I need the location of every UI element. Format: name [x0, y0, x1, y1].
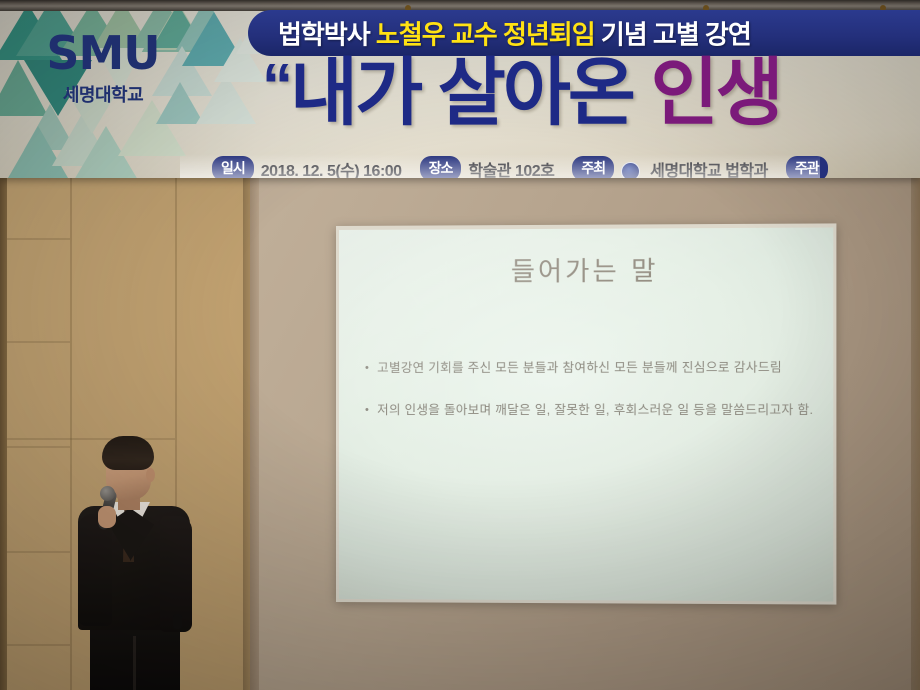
microphone-head-icon	[100, 486, 115, 501]
event-banner: SMU 세명대학교 법학박사 노철우 교수 정년퇴임 기념 고별 강연 “내가 …	[0, 8, 920, 178]
organizer-label-pill: 주관	[786, 156, 828, 178]
host-label-pill: 주최	[572, 156, 614, 178]
bullet-dot-icon: •	[365, 358, 369, 380]
quote-mark: “	[262, 52, 290, 121]
presentation-clicker-icon	[173, 614, 182, 629]
slide-bullet-list: • 고별강연 기회를 주신 모든 분들과 참여하신 모든 분들께 진심으로 감사…	[365, 357, 815, 442]
slide-title: 들어가는 말	[339, 250, 833, 289]
speaker-ear	[146, 468, 155, 482]
header-seg-1: 법학박사	[278, 20, 376, 50]
smu-wordmark: SMU	[38, 30, 168, 76]
banner-main-title: “내가 살아온 인생	[262, 56, 781, 130]
speaker-hand	[98, 506, 116, 528]
wall-left-edge	[0, 176, 7, 690]
bullet-text: 저의 인생을 돌아보며 깨달은 일, 잘못한 일, 후회스러운 일 등을 말씀드…	[377, 400, 815, 422]
banner-header-bar: 법학박사 노철우 교수 정년퇴임 기념 고별 강연	[248, 10, 920, 56]
place-value: 학술관 102호	[468, 157, 554, 179]
header-seg-highlight: 노철우 교수 정년퇴임	[376, 20, 595, 50]
wall-right-edge	[911, 176, 920, 690]
date-label-pill: 일시	[212, 156, 254, 178]
smu-logo: SMU 세명대학교	[38, 30, 168, 107]
projection-screen: 들어가는 말 • 고별강연 기회를 주신 모든 분들과 참여하신 모든 분들께 …	[336, 223, 836, 604]
place-label-pill: 장소	[420, 156, 462, 178]
university-crest-icon	[621, 162, 640, 178]
bullet-dot-icon: •	[365, 400, 369, 422]
lecture-hall-photo: SMU 세명대학교 법학박사 노철우 교수 정년퇴임 기념 고별 강연 “내가 …	[0, 0, 920, 690]
smu-university-name: 세명대학교	[38, 81, 168, 107]
header-seg-3: 기념 고별 강연	[595, 20, 751, 50]
list-item: • 저의 인생을 돌아보며 깨달은 일, 잘못한 일, 후회스러운 일 등을 말…	[365, 400, 815, 422]
speaker-leg-seam	[133, 636, 136, 690]
list-item: • 고별강연 기회를 주신 모든 분들과 참여하신 모든 분들께 진심으로 감사…	[365, 357, 815, 380]
banner-details: 일시 2018. 12. 5(수) 16:00 장소 학술관 102호 주최 세…	[212, 156, 828, 178]
speaker-person	[60, 436, 250, 690]
date-value: 2018. 12. 5(수) 16:00	[261, 157, 402, 179]
host-value: 세명대학교 법학과	[650, 157, 768, 179]
title-blue-part: 내가 살아온	[290, 51, 651, 134]
banner-header-text: 법학박사 노철우 교수 정년퇴임 기념 고별 강연	[278, 15, 751, 52]
speaker-arm-left	[78, 514, 112, 626]
title-purple-part: 인생	[651, 51, 781, 134]
speaker-hair	[102, 436, 154, 470]
bullet-text: 고별강연 기회를 주신 모든 분들과 참여하신 모든 분들께 진심으로 감사드림	[377, 357, 815, 380]
projected-slide: 들어가는 말 • 고별강연 기회를 주신 모든 분들과 참여하신 모든 분들께 …	[339, 227, 833, 601]
